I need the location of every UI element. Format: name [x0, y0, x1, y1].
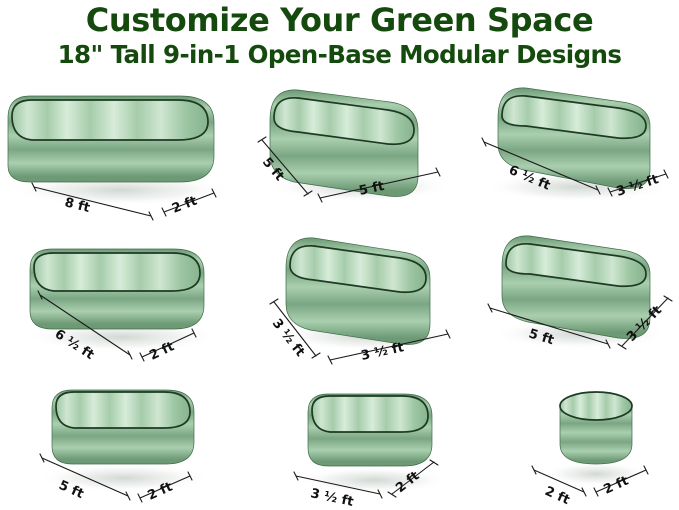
product-bed-3-5ft-x-2ft-oval[interactable]: 3 ½ ft 2 ft [278, 378, 478, 510]
header: Customize Your Green Space 18" Tall 9-in… [0, 0, 679, 68]
product-bed-6-5ft-x-2ft-oval[interactable]: 6 ½ ft 2 ft [12, 227, 242, 372]
product-bed-3-5ft-x-3-5ft-square[interactable]: 3 ½ ft 3 ½ ft [258, 224, 473, 372]
bed-interior [34, 253, 200, 291]
bed-interior [56, 392, 190, 428]
product-bed-8ft-x-2ft-oval[interactable]: 8 ft 2 ft [2, 82, 242, 222]
product-bed-5ft-x-3-5ft-rect[interactable]: 5 ft 3 ½ ft [476, 224, 679, 372]
bed-interior [12, 100, 208, 140]
product-bed-5ft-x-5ft-square[interactable]: 5 ft 5 ft [248, 82, 463, 222]
product-bed-2ft-x-2ft-round[interactable]: 2 ft 2 ft [512, 378, 679, 510]
page-title: Customize Your Green Space [0, 4, 679, 36]
page-subtitle: 18" Tall 9-in-1 Open-Base Modular Design… [0, 43, 679, 68]
product-grid: 8 ft 2 ft 5 ft [0, 82, 679, 510]
dimension-length-label: 2 ft [542, 484, 571, 508]
product-bed-5ft-x-2ft-oval[interactable]: 5 ft 2 ft [24, 372, 234, 510]
product-bed-6-5ft-x-3-5ft-rect[interactable]: 6 ½ ft 3 ½ ft [468, 82, 679, 222]
bed-interior [312, 396, 428, 432]
